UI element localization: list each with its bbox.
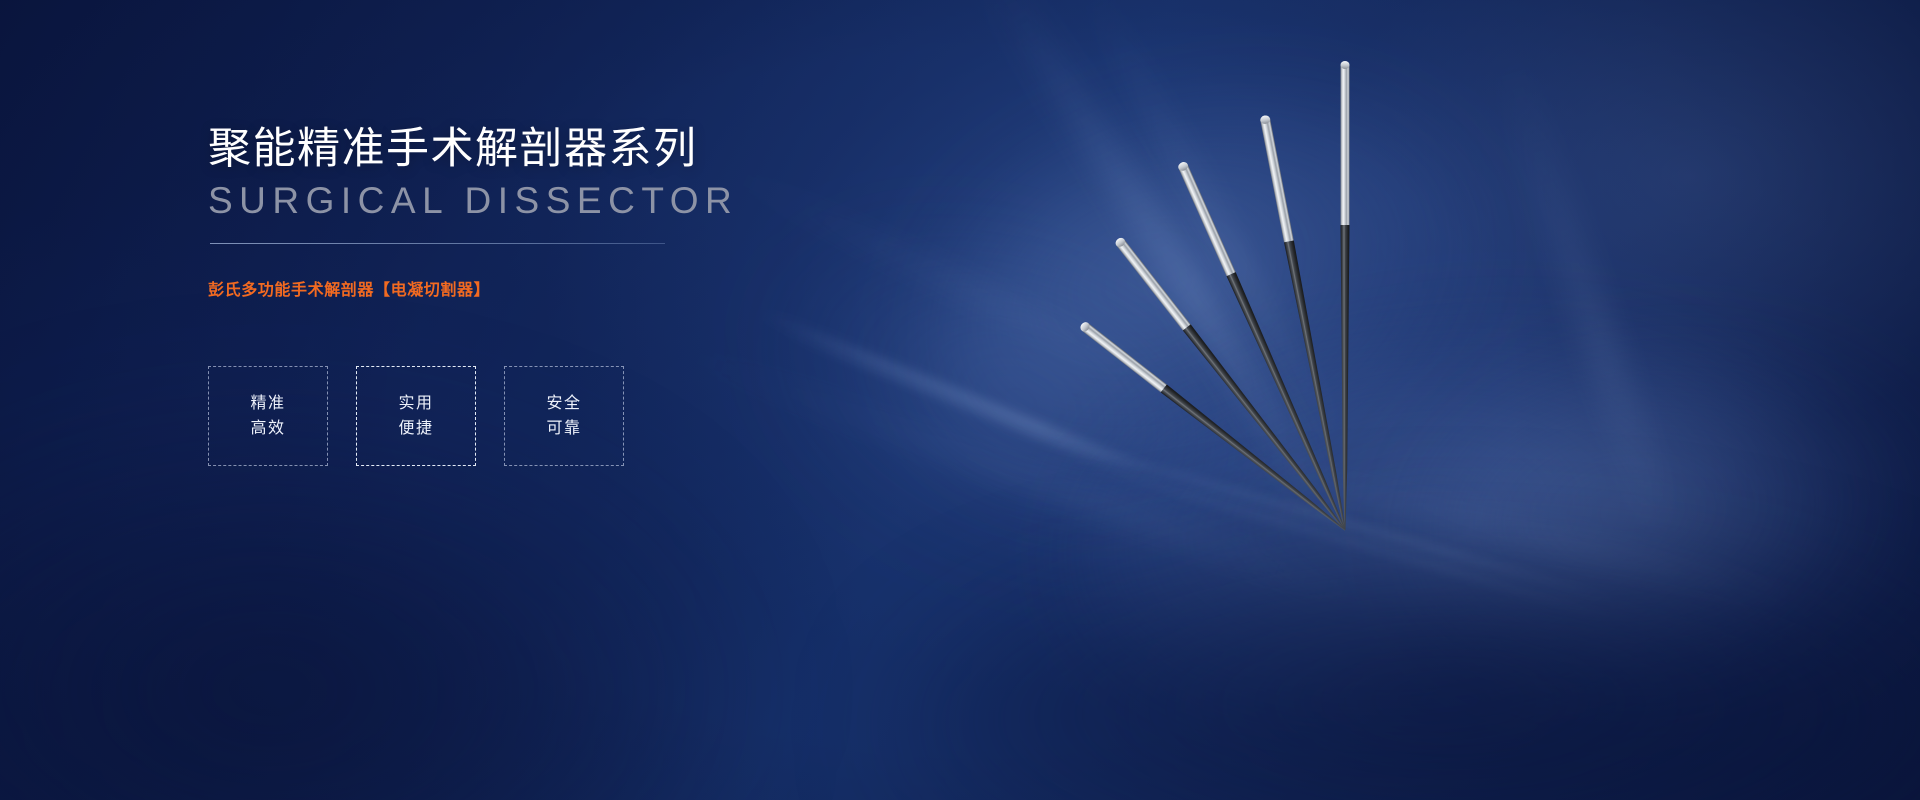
hero-text-block: 聚能精准手术解剖器系列 SURGICAL DISSECTOR 彭氏多功能手术解剖… [208, 0, 948, 800]
surgical-dissector-2 [1114, 236, 1349, 533]
feature-line-1: 安全 [546, 396, 581, 412]
feature-line-1: 实用 [398, 396, 433, 412]
blurred-glove-shape [1409, 342, 1920, 707]
hero-banner: 聚能精准手术解剖器系列 SURGICAL DISSECTOR 彭氏多功能手术解剖… [0, 0, 1920, 800]
feature-box-precision[interactable]: 精准 高效 [208, 366, 328, 466]
feature-line-2: 高效 [250, 421, 285, 437]
blurred-glove-shape [1061, 291, 1859, 768]
blurred-instrument-streak [1049, 452, 1627, 623]
divider [210, 243, 665, 244]
light-streak [978, 0, 1339, 517]
feature-line-1: 精准 [250, 396, 285, 412]
background-shadow [900, 560, 1920, 800]
surgical-dissector-1 [1079, 320, 1349, 534]
feature-box-practical[interactable]: 实用 便捷 [356, 366, 476, 466]
surgical-dissector-4 [1260, 115, 1350, 531]
blurred-instrument-streak [1029, 430, 1627, 607]
light-streak [1146, 430, 1830, 617]
surgical-dissector-5 [1341, 61, 1350, 530]
blurred-glove-shape [891, 50, 1529, 550]
surgical-dissector-3 [1177, 161, 1350, 532]
feature-line-2: 可靠 [546, 421, 581, 437]
light-streak [1076, 0, 1344, 454]
feature-line-2: 便捷 [398, 421, 433, 437]
product-name: 彭氏多功能手术解剖器【电凝切割器】 [208, 276, 490, 300]
feature-box-safety[interactable]: 安全 可靠 [504, 366, 624, 466]
light-streak [1488, 40, 1681, 545]
feature-box-group: 精准 高效 实用 便捷 安全 可靠 [208, 366, 624, 466]
page-title: 聚能精准手术解剖器系列 [208, 124, 698, 175]
page-subtitle-en: SURGICAL DISSECTOR [208, 180, 738, 222]
